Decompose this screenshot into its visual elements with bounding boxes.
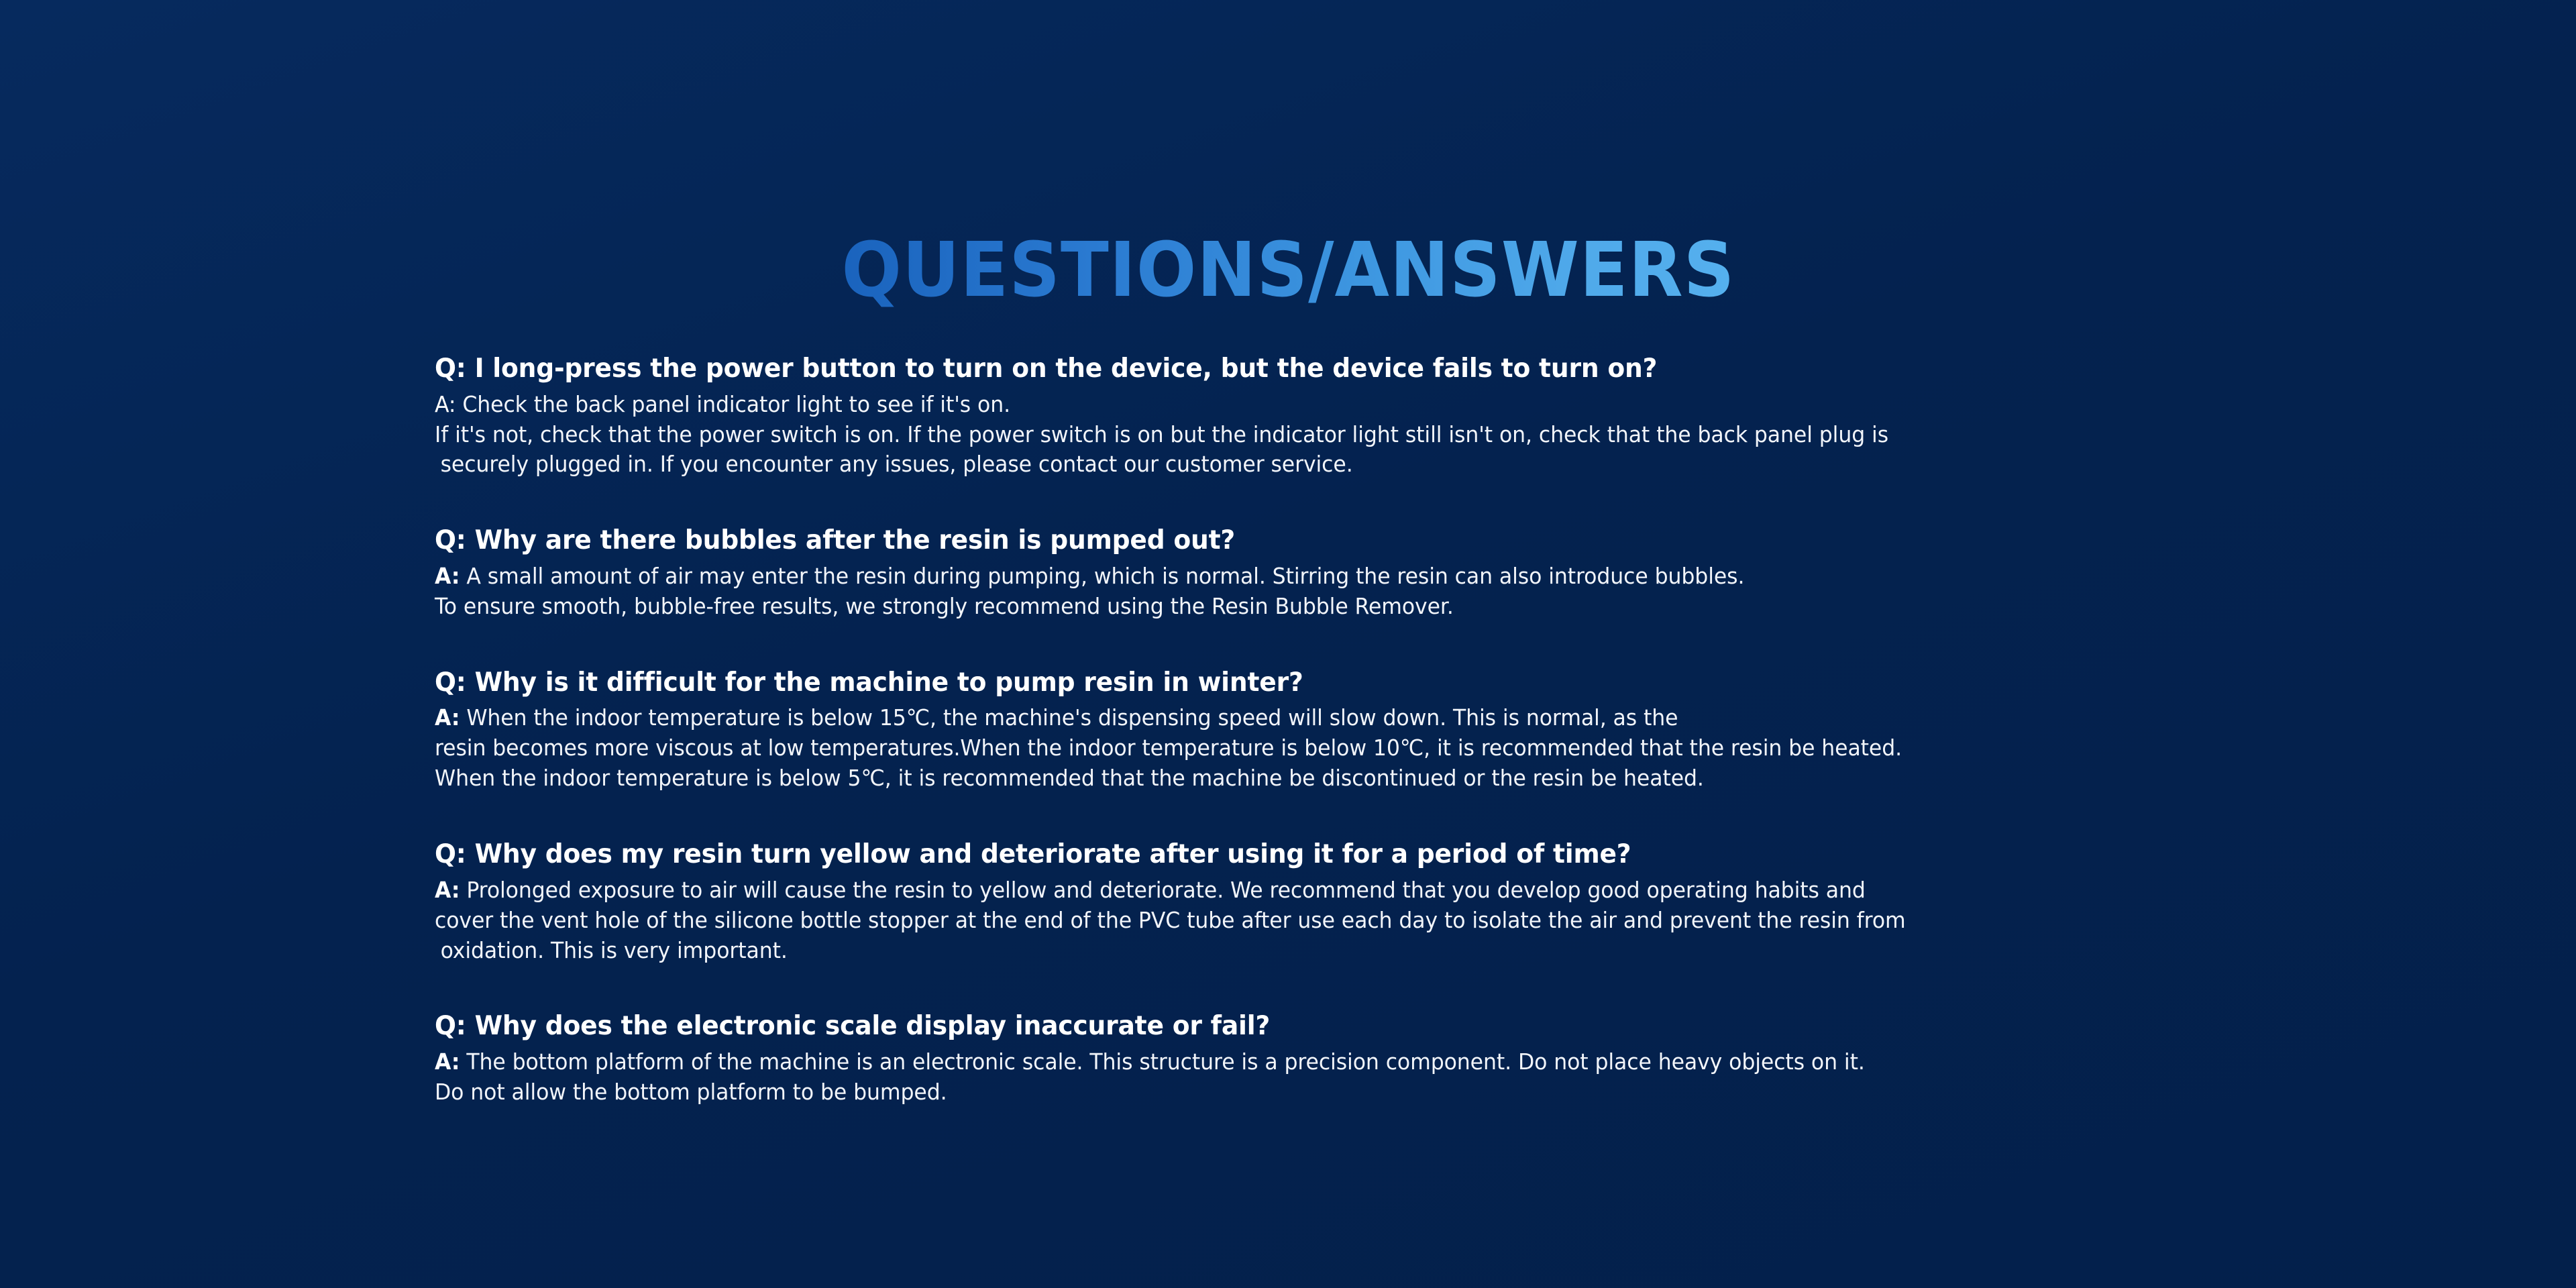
answer-line: resin becomes more viscous at low temper… [435,733,2421,763]
question-text: Q: Why does the electronic scale display… [435,1010,2442,1044]
answer-line: cover the vent hole of the silicone bott… [435,906,2421,936]
answer-text: Check the back panel indicator light to … [455,391,1010,417]
answer-line: A: When the indoor temperature is below … [435,703,2421,733]
answer-line: To ensure smooth, bubble-free results, w… [435,592,2421,622]
answer-text: Prolonged exposure to air will cause the… [460,877,1865,903]
qa-block: Q: Why does the electronic scale display… [435,1010,2514,1107]
answer-text: The bottom platform of the machine is an… [460,1049,1864,1075]
question-text: Q: I long-press the power button to turn… [435,352,2442,386]
question-text: Q: Why are there bubbles after the resin… [435,524,2442,558]
qa-block: Q: I long-press the power button to turn… [435,352,2514,480]
answer-text: A small amount of air may enter the resi… [460,563,1744,589]
question-text: Q: Why is it difficult for the machine t… [435,666,2442,700]
answer-line: If it's not, check that the power switch… [435,420,2421,450]
answer-line: A: The bottom platform of the machine is… [435,1047,2421,1077]
answer-prefix: A: [435,1049,460,1075]
answer-prefix: A: [435,704,460,731]
answer-line: A: Check the back panel indicator light … [435,390,2421,420]
qa-block: Q: Why is it difficult for the machine t… [435,666,2514,794]
answer-prefix: A: [435,563,460,589]
page-title: QUESTIONS/ANSWERS [841,230,1735,311]
qa-block: Q: Why does my resin turn yellow and det… [435,838,2514,965]
qa-block: Q: Why are there bubbles after the resin… [435,524,2514,621]
answer-line: A: A small amount of air may enter the r… [435,561,2421,592]
answer-prefix: A: [435,391,455,417]
page-title-container: QUESTIONS/ANSWERS [0,180,2576,362]
answer-prefix: A: [435,877,460,903]
answer-line: oxidation. This is very important. [435,936,2421,966]
faq-page: QUESTIONS/ANSWERS Q: I long-press the po… [0,0,2576,1288]
answer-line: When the indoor temperature is below 5℃,… [435,763,2421,794]
answer-line: A: Prolonged exposure to air will cause … [435,875,2421,906]
answer-line: Do not allow the bottom platform to be b… [435,1077,2421,1108]
question-text: Q: Why does my resin turn yellow and det… [435,838,2442,872]
answer-line: securely plugged in. If you encounter an… [435,449,2421,480]
answer-text: When the indoor temperature is below 15℃… [460,704,1678,731]
qa-list: Q: I long-press the power button to turn… [435,352,2514,1108]
